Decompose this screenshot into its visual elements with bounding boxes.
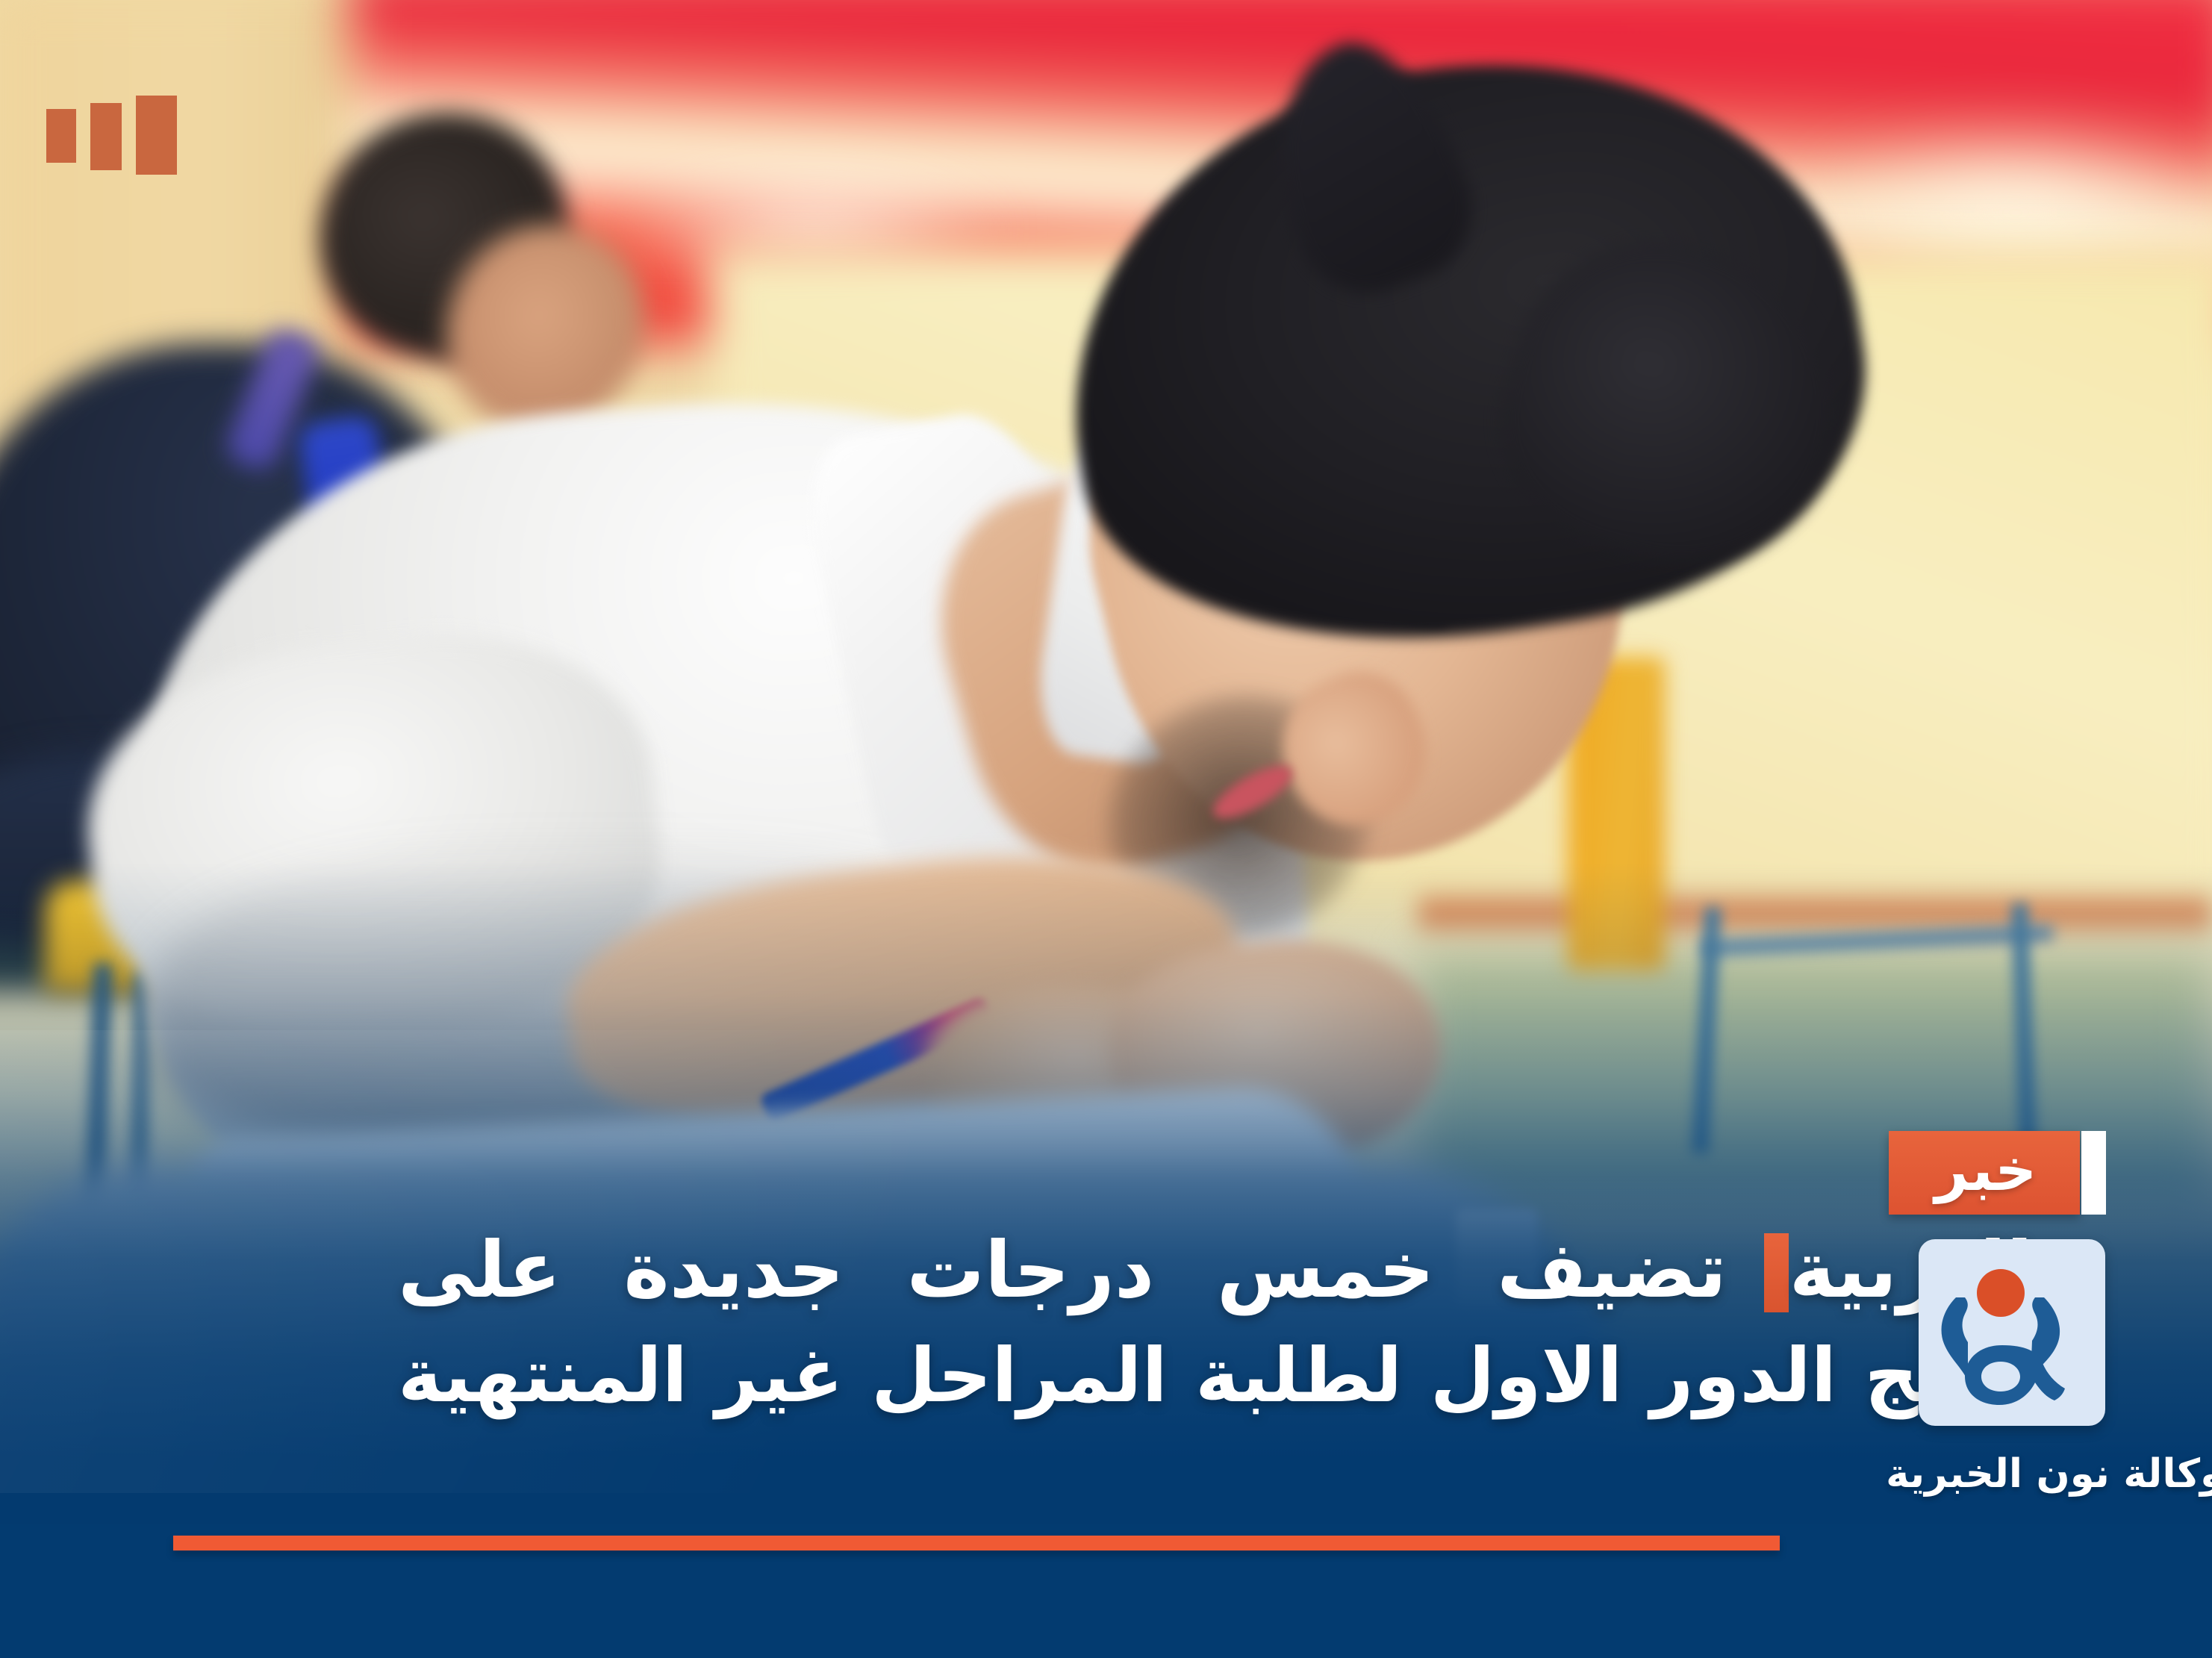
headline-underline xyxy=(173,1536,1780,1551)
news-badge-white-bar xyxy=(2081,1131,2106,1215)
news-card: التربية تضيف خمس درجات جديدة على نتائج ا… xyxy=(0,0,2212,1658)
three-descending-bars-icon xyxy=(46,96,177,175)
headline: التربية تضيف خمس درجات جديدة على نتائج ا… xyxy=(398,1217,2033,1427)
news-badge-label: خبر xyxy=(1935,1141,2037,1200)
bar-3 xyxy=(46,109,76,163)
bar-1 xyxy=(136,96,177,175)
agency-name: وكالة نون الخبرية xyxy=(1881,1454,2212,1494)
brand-column: خبر وكالة نون الخبرية xyxy=(1881,1131,2105,1494)
noon-agency-person-logo-icon xyxy=(1919,1239,2105,1426)
table-edge xyxy=(1418,888,2212,941)
headline-line-2: نتائج الدور الاول لطلبة المراحل غير المن… xyxy=(398,1324,2033,1427)
news-badge: خبر xyxy=(1889,1131,2105,1215)
bar-2 xyxy=(90,103,122,170)
headline-line-1: التربية تضيف خمس درجات جديدة على xyxy=(398,1217,2033,1324)
